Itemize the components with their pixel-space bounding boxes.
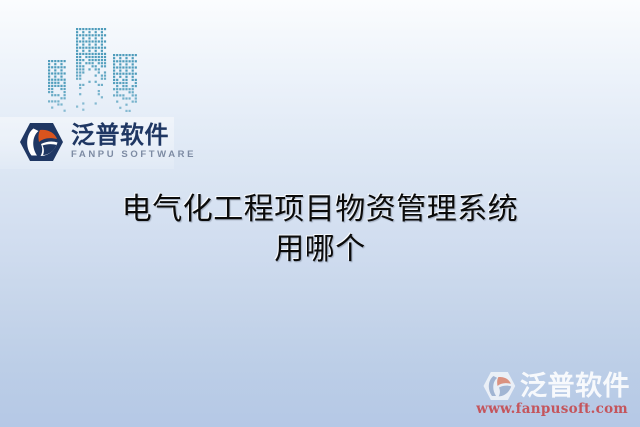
brand-wordmark: 泛普软件 FANPU SOFTWARE (71, 123, 196, 160)
watermark-logo-row: 泛普软件 (476, 371, 630, 401)
watermark-url: www.fanpusoft.com (476, 402, 628, 417)
page-title-line-1: 电气化工程项目物资管理系统 (0, 190, 640, 230)
fanpu-hexagon-logo-icon (18, 122, 64, 162)
brand-name-cn: 泛普软件 (71, 123, 196, 148)
dotted-city-skyline-graphic (45, 24, 147, 116)
watermark: 泛普软件 www.fanpusoft.com (476, 371, 630, 417)
page-title: 电气化工程项目物资管理系统 用哪个 (0, 190, 640, 270)
page-title-line-2: 用哪个 (0, 230, 640, 270)
slide-canvas: 泛普软件 FANPU SOFTWARE 电气化工程项目物资管理系统 用哪个 泛普… (0, 0, 640, 427)
brand-name-en: FANPU SOFTWARE (71, 150, 196, 161)
watermark-brand-name: 泛普软件 (520, 373, 630, 400)
brand-logo: 泛普软件 FANPU SOFTWARE (18, 122, 196, 162)
fanpu-hexagon-logo-watermark-icon (482, 371, 516, 401)
